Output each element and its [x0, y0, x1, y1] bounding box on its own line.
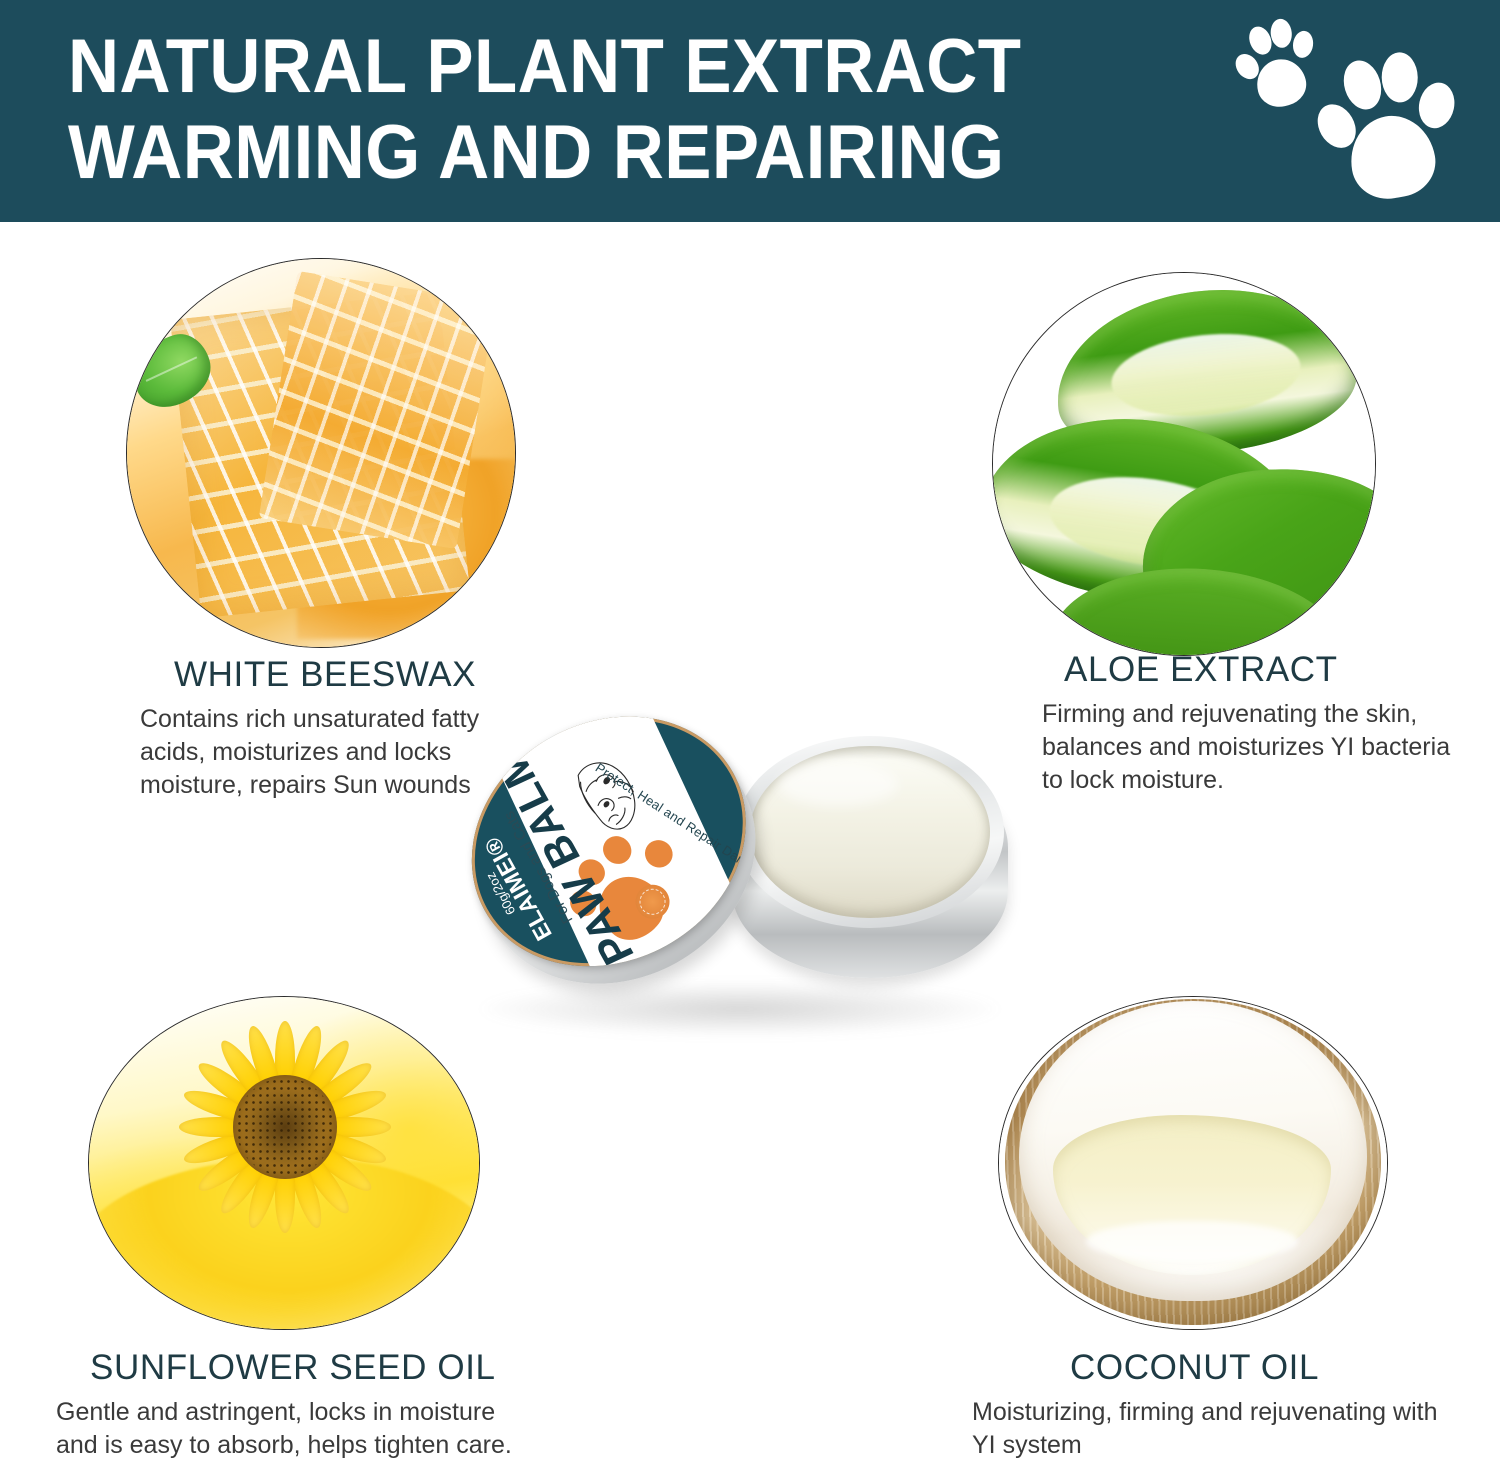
sunflower-image [88, 996, 480, 1330]
header-banner: NATURAL PLANT EXTRACT WARMING AND REPAIR… [0, 0, 1500, 222]
page-title: NATURAL PLANT EXTRACT WARMING AND REPAIR… [68, 24, 1165, 196]
ingredient-description-aloe: Firming and rejuvenating the skin, balan… [1042, 698, 1452, 797]
coconut-image [998, 996, 1388, 1330]
ingredient-title-beeswax: WHITE BEESWAX [140, 655, 540, 695]
lid-label-face: PAW BALM For Dogs and Cats Protect, Heal… [427, 668, 791, 1014]
sunflower-graphic [167, 1009, 403, 1245]
aloe-image [992, 272, 1376, 656]
ingredient-title-aloe: ALOE EXTRACT [1042, 650, 1452, 690]
ingredient-block-sunflower: SUNFLOWER SEED OIL Gentle and astringent… [56, 1348, 526, 1462]
ingredient-description-coconut: Moisturizing, firming and rejuvenating w… [972, 1396, 1442, 1462]
tin-lid: PAW BALM For Dogs and Cats Protect, Heal… [468, 702, 768, 1014]
ingredient-description-sunflower: Gentle and astringent, locks in moisture… [56, 1396, 526, 1462]
beeswax-image [126, 258, 516, 648]
ingredient-block-coconut: COCONUT OIL Moisturizing, firming and re… [972, 1348, 1442, 1462]
title-line-2: WARMING AND REPAIRING [68, 110, 1165, 196]
ingredient-title-sunflower: SUNFLOWER SEED OIL [56, 1348, 526, 1388]
paw-print-small-icon [1223, 9, 1329, 119]
paw-print-large-icon [1306, 39, 1472, 213]
ingredient-title-coconut: COCONUT OIL [972, 1348, 1442, 1388]
product-image: PAW BALM For Dogs and Cats Protect, Heal… [460, 690, 1040, 1070]
title-line-1: NATURAL PLANT EXTRACT [68, 24, 1165, 110]
ingredient-block-aloe: ALOE EXTRACT Firming and rejuvenating th… [1042, 650, 1452, 797]
